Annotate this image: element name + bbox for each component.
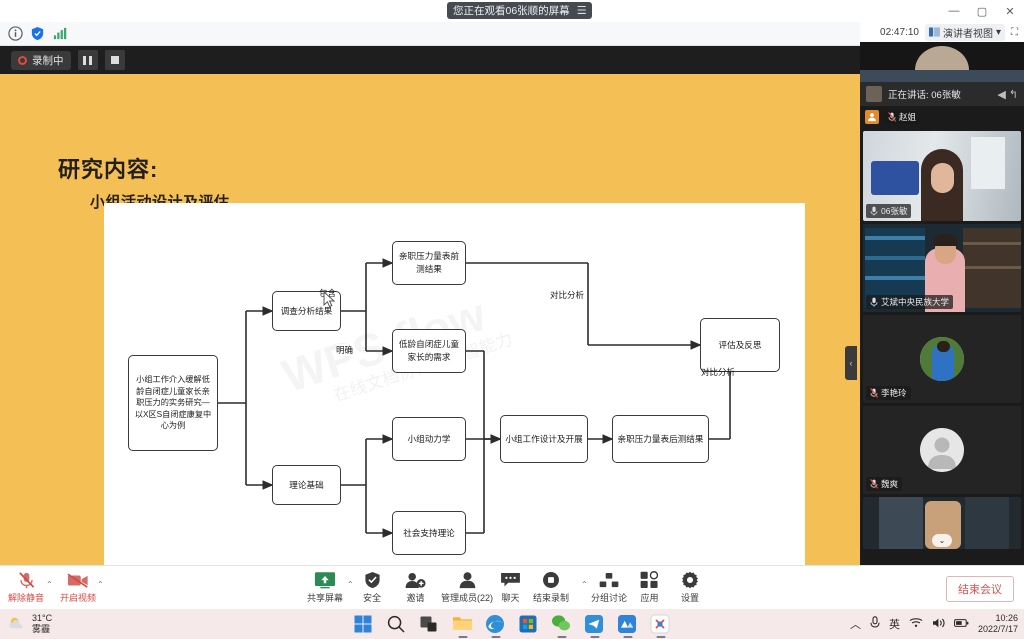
- end-meeting-button[interactable]: 结束会议: [946, 576, 1014, 602]
- speaker-view-icon: [929, 27, 940, 37]
- breakout-rooms-icon: [599, 570, 619, 590]
- microphone-muted-icon: [17, 570, 36, 590]
- screen-share-notice: 您正在观看06张顺的屏幕 ☰: [447, 2, 592, 19]
- flow-node-pretest: 亲职压力量表前测结果: [392, 241, 466, 285]
- flow-node-posttest: 亲职压力量表后测结果: [612, 415, 709, 463]
- invite-person-icon: [405, 570, 426, 590]
- toolbar-unmute[interactable]: 解除静音: [8, 570, 44, 604]
- task-view-icon[interactable]: [419, 614, 440, 635]
- flow-node-support: 社会支持理论: [392, 511, 466, 555]
- flow-node-dynamics: 小组动力学: [392, 417, 466, 461]
- toolbar-chat-label: 聊天: [501, 591, 519, 604]
- host-name-chip: 赵姐: [884, 110, 920, 124]
- windows-start-icon[interactable]: [353, 614, 374, 635]
- recording-status-chip: 录制中: [11, 51, 71, 70]
- avatar-2: [920, 337, 964, 381]
- toolbar-chat[interactable]: 聊天: [500, 570, 521, 604]
- mouse-cursor-icon: [323, 291, 335, 308]
- default-avatar-icon: [920, 428, 964, 472]
- slide-title: 研究内容:: [58, 152, 158, 184]
- participant-name-chip-2: 李艳玲: [866, 386, 911, 400]
- meeting-timer: 02:47:10: [880, 27, 919, 38]
- host-name-label: 赵姐: [899, 111, 916, 124]
- toolbar-stop-recording[interactable]: 结束录制: [533, 570, 569, 604]
- store-icon[interactable]: [518, 614, 539, 635]
- meeting-toolbar: 解除静音 ⌃ 开启视频 ⌃ 共享屏幕: [0, 565, 1024, 609]
- toolbar-settings-label: 设置: [681, 591, 699, 604]
- presentation-slide: 研究内容: 小组活动设计及评估 WPS flow 在线文档协作办公智能力: [0, 74, 860, 565]
- shared-screen-area: 录制中 研究内容: 小组活动设计及评估 WPS flow 在线文档协作办公智能力: [0, 46, 860, 565]
- microphone-muted-icon: [870, 388, 878, 398]
- participant-name-chip-0: 06张敏: [866, 204, 911, 218]
- window-controls: — ▢ ✕: [940, 0, 1024, 22]
- toolbar-apps-label: 应用: [640, 591, 658, 604]
- pause-icon: [83, 56, 92, 65]
- host-avatar-icon: [865, 110, 879, 124]
- panel-header: 02:47:10 演讲者视图 ▾ ⛶: [860, 22, 1024, 42]
- taskbar-weather-widget[interactable]: 31°C 雾霾: [8, 613, 52, 635]
- toolbar-security[interactable]: 安全: [363, 570, 381, 604]
- close-button[interactable]: ✕: [996, 0, 1024, 22]
- recording-status-label: 录制中: [32, 53, 64, 68]
- chevron-down-icon[interactable]: ▾: [996, 27, 1001, 38]
- stop-recording-button[interactable]: [105, 50, 125, 70]
- cloud-drive-icon[interactable]: [617, 614, 638, 635]
- hamburger-icon[interactable]: ☰: [577, 3, 586, 19]
- share-screen-icon: [314, 570, 336, 590]
- record-options-caret[interactable]: ⌃: [581, 580, 588, 589]
- flowchart-canvas: WPS flow 在线文档协作办公智能力: [104, 203, 805, 565]
- toolbar-breakout-rooms[interactable]: 分组讨论: [591, 570, 627, 604]
- toolbar-stop-recording-label: 结束录制: [533, 591, 569, 604]
- view-mode-selector[interactable]: 演讲者视图 ▾: [925, 24, 1005, 41]
- toolbar-unmute-label: 解除静音: [8, 591, 44, 604]
- active-speaker-label: 正在讲话: 06张敏: [888, 87, 961, 101]
- flow-node-theory: 理论基础: [272, 465, 341, 505]
- stop-record-icon: [542, 570, 560, 590]
- participants-panel: 02:47:10 演讲者视图 ▾ ⛶ 正在讲话: 06张敏 ◀ ↰: [860, 22, 1024, 609]
- flow-node-needs: 低龄自闭症儿童家长的需求: [392, 329, 466, 373]
- chat-bubble-icon: [500, 570, 521, 590]
- toolbar-invite[interactable]: 邀请: [405, 570, 426, 604]
- record-dot-icon: [18, 56, 27, 65]
- taskbar-system-tray: ︿ 英: [850, 613, 1018, 635]
- screen-share-notice-text: 您正在观看06张顺的屏幕: [453, 3, 570, 19]
- toolbar-manage-members[interactable]: 管理成员(22): [441, 570, 493, 604]
- shield-icon: [364, 570, 381, 590]
- apps-grid-icon: [640, 570, 659, 590]
- pause-recording-button[interactable]: [78, 50, 98, 70]
- avatar-3: [920, 428, 964, 472]
- share-options-caret[interactable]: ⌃: [347, 580, 354, 589]
- toolbar-share-screen-label: 共享屏幕: [307, 591, 343, 604]
- toolbar-breakout-rooms-label: 分组讨论: [591, 591, 627, 604]
- panel-collapse-handle[interactable]: ‹: [845, 346, 857, 380]
- microphone-muted-icon: [870, 479, 878, 489]
- video-options-caret[interactable]: ⌃: [97, 580, 104, 589]
- weather-description: 雾霾: [32, 624, 52, 635]
- stop-icon: [111, 56, 119, 64]
- wechat-icon[interactable]: [551, 614, 572, 635]
- speaker-nav-arrows[interactable]: ◀ ↰: [997, 88, 1018, 101]
- toolbar-share-screen[interactable]: 共享屏幕: [307, 570, 343, 604]
- recording-control-bar: 录制中: [0, 46, 860, 74]
- toolbar-invite-label: 邀请: [406, 591, 424, 604]
- signal-bars-icon[interactable]: [52, 26, 67, 41]
- battery-icon[interactable]: [954, 618, 969, 631]
- weather-haze-icon: [8, 616, 27, 633]
- participant-name-chip-3: 魏爽: [866, 477, 902, 491]
- participant-tile-2[interactable]: 李艳玲: [863, 315, 1021, 403]
- info-icon[interactable]: [8, 26, 23, 41]
- weather-temperature: 31°C: [32, 613, 52, 624]
- chevron-left-icon[interactable]: ◀: [997, 88, 1005, 101]
- taskbar-clock[interactable]: 10:26 2022/7/17: [978, 613, 1018, 635]
- participant-tile-partial-top[interactable]: [860, 42, 1024, 82]
- flow-node-evaluate: 评估及反思: [700, 318, 780, 372]
- edge-label-compare-top: 对比分析: [550, 289, 584, 301]
- microphone-icon: [870, 206, 878, 216]
- participant-tile-3[interactable]: 魏爽: [863, 406, 1021, 494]
- shield-icon[interactable]: [30, 26, 45, 41]
- clock-time: 10:26: [978, 613, 1018, 624]
- active-speaker-banner: 正在讲话: 06张敏 ◀ ↰: [860, 82, 1024, 106]
- volume-icon[interactable]: [932, 617, 945, 632]
- toolbar-settings[interactable]: 设置: [681, 570, 699, 604]
- camera-muted-icon: [67, 570, 89, 590]
- participant-name-label-1: 艾斌中央民族大学: [881, 296, 949, 309]
- flow-node-design: 小组工作设计及开展: [500, 415, 588, 463]
- participant-tile-4[interactable]: ⌄: [863, 497, 1021, 549]
- view-mode-label: 演讲者视图: [943, 25, 993, 40]
- mic-icon[interactable]: [870, 616, 880, 632]
- edge-browser-icon[interactable]: [485, 614, 506, 635]
- meeting-app-icon[interactable]: [650, 614, 671, 635]
- speaker-thumbnail: [866, 86, 882, 102]
- participant-name-label-3: 魏爽: [881, 478, 898, 491]
- clock-date: 2022/7/17: [978, 624, 1018, 635]
- flow-node-root: 小组工作介入缓解低龄自闭症儿童家长亲职压力的实务研究—以X区S自闭症康复中心为例: [128, 355, 218, 451]
- file-explorer-icon[interactable]: [452, 614, 473, 635]
- participant-tile-1[interactable]: 艾斌中央民族大学: [863, 224, 1021, 312]
- toolbar-start-video[interactable]: 开启视频: [60, 570, 96, 604]
- audio-options-caret[interactable]: ⌃: [46, 580, 53, 589]
- wifi-icon[interactable]: [909, 617, 923, 631]
- search-icon[interactable]: [386, 614, 407, 635]
- gear-icon: [681, 570, 699, 590]
- fullscreen-icon[interactable]: ⛶: [1011, 27, 1018, 38]
- host-row[interactable]: 赵姐: [860, 106, 1024, 128]
- edge-label-compare-bottom: 对比分析: [701, 366, 735, 378]
- window-title-bar: 您正在观看06张顺的屏幕 ☰ — ▢ ✕: [0, 0, 1024, 22]
- toolbar-apps[interactable]: 应用: [640, 570, 659, 604]
- telegram-icon[interactable]: [584, 614, 605, 635]
- scroll-down-button[interactable]: ⌄: [932, 534, 952, 547]
- participant-name-chip-1: 艾斌中央民族大学: [866, 295, 953, 309]
- microphone-icon: [870, 297, 878, 307]
- edge-label-clarify: 明确: [336, 344, 353, 356]
- windows-taskbar: 31°C 雾霾: [0, 609, 1024, 639]
- tray-overflow-icon[interactable]: ︿: [850, 616, 861, 632]
- toolbar-security-label: 安全: [363, 591, 381, 604]
- participant-name-label-0: 06张敏: [881, 205, 907, 218]
- manage-members-icon: [458, 570, 477, 590]
- toolbar-start-video-label: 开启视频: [60, 591, 96, 604]
- participant-tile-0[interactable]: 06张敏: [863, 131, 1021, 221]
- back-arrow-icon[interactable]: ↰: [1009, 88, 1018, 101]
- participant-name-label-2: 李艳玲: [881, 387, 907, 400]
- ime-indicator[interactable]: 英: [889, 616, 900, 632]
- taskbar-app-icons: [353, 614, 671, 635]
- minimize-button[interactable]: —: [940, 0, 968, 22]
- toolbar-manage-members-label: 管理成员(22): [441, 591, 493, 604]
- microphone-muted-icon: [888, 112, 896, 122]
- maximize-button[interactable]: ▢: [968, 0, 996, 22]
